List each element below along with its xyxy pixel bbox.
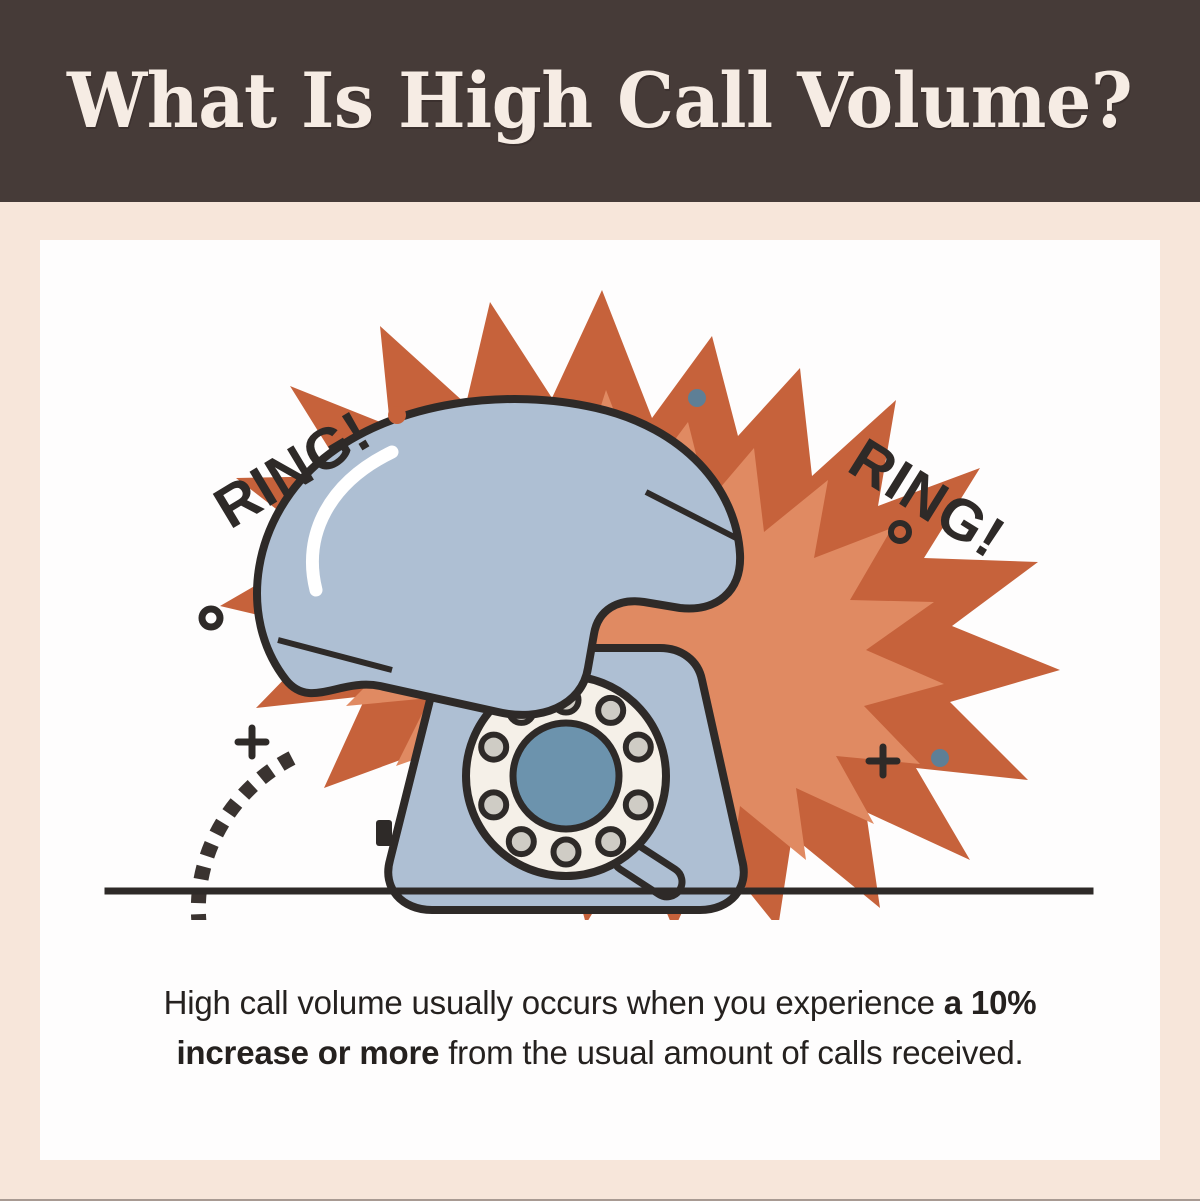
decor-dot-orange — [388, 406, 406, 424]
decor-dot-blue-top — [688, 389, 706, 407]
infographic-page: What Is High Call Volume? — [0, 0, 1200, 1201]
caption-emphasis-one: a 10% — [944, 984, 1037, 1021]
caption-tail: from the usual amount of calls received. — [439, 1034, 1023, 1071]
illustration-ringing-telephone: RING! RING! — [40, 240, 1160, 920]
caption-lead: High call volume usually occurs when you… — [164, 984, 944, 1021]
content-card: RING! RING! Hig — [40, 240, 1160, 1160]
decor-ring-left — [202, 609, 220, 627]
caption-text: High call volume usually occurs when you… — [100, 978, 1100, 1078]
caption-emphasis-two: increase or more — [176, 1034, 439, 1071]
header-bar: What Is High Call Volume? — [0, 0, 1200, 202]
decor-plus-left — [238, 728, 266, 756]
decor-dot-blue-right — [931, 749, 949, 767]
page-title: What Is High Call Volume? — [67, 63, 1132, 139]
